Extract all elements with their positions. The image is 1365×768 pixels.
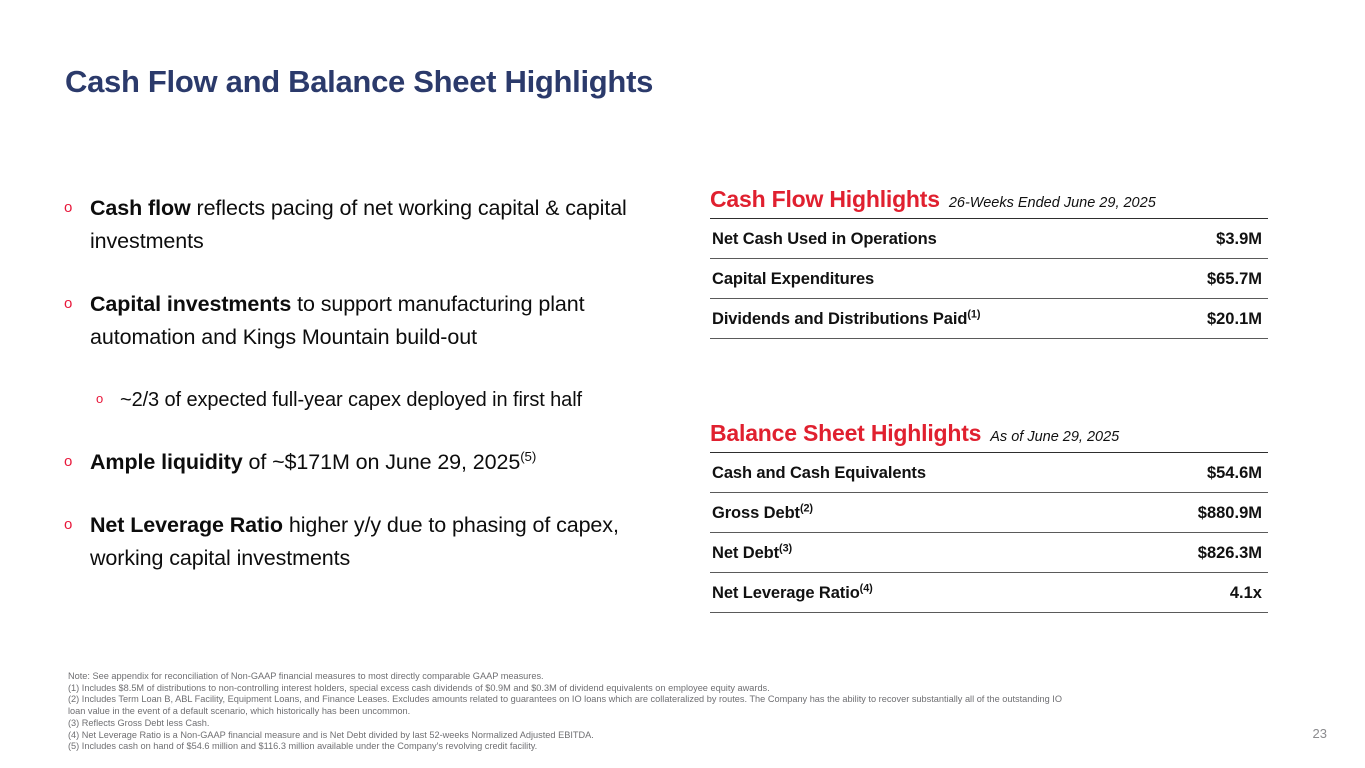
table-row-divider bbox=[710, 612, 1268, 613]
cash-flow-heading-row: Cash Flow Highlights 26-Weeks Ended June… bbox=[710, 186, 1268, 218]
bullet-item: oCapital investments to support manufact… bbox=[64, 288, 664, 354]
table-row-value: $826.3M bbox=[1198, 544, 1268, 563]
table-row-label: Net Leverage Ratio(4) bbox=[712, 584, 873, 603]
balance-sheet-heading: Balance Sheet Highlights bbox=[710, 420, 981, 447]
bullet-body: of ~$171M on June 29, 2025 bbox=[243, 450, 521, 474]
bullet-marker-icon: o bbox=[64, 509, 90, 541]
bullet-lead-term: Ample liquidity bbox=[90, 450, 243, 474]
balance-sheet-highlights-panel: Balance Sheet Highlights As of June 29, … bbox=[710, 420, 1268, 613]
cash-flow-highlights-panel: Cash Flow Highlights 26-Weeks Ended June… bbox=[710, 186, 1268, 339]
bullet-marker-icon: o bbox=[96, 384, 120, 414]
bullet-item: o~2/3 of expected full-year capex deploy… bbox=[64, 384, 664, 416]
table-row-label: Gross Debt(2) bbox=[712, 504, 813, 523]
bullet-marker-icon: o bbox=[64, 288, 90, 320]
footnote-line: (2) Includes Term Loan B, ABL Facility, … bbox=[68, 694, 1273, 706]
bullet-text: ~2/3 of expected full-year capex deploye… bbox=[120, 384, 582, 416]
table-row: Gross Debt(2)$880.9M bbox=[710, 493, 1268, 532]
table-row-label-text: Gross Debt bbox=[712, 504, 800, 522]
table-row-label: Net Cash Used in Operations bbox=[712, 230, 937, 249]
bullet-body: ~2/3 of expected full-year capex deploye… bbox=[120, 389, 582, 411]
bullet-item: oCash flow reflects pacing of net workin… bbox=[64, 192, 664, 258]
table-row-value: 4.1x bbox=[1230, 584, 1268, 603]
footnote-line: (3) Reflects Gross Debt less Cash. bbox=[68, 718, 1273, 730]
footnote-line: loan value in the event of a default sce… bbox=[68, 706, 1273, 718]
bullet-marker-icon: o bbox=[64, 446, 90, 478]
table-row-label: Net Debt(3) bbox=[712, 544, 792, 563]
table-row-value: $20.1M bbox=[1207, 310, 1268, 329]
balance-sheet-subheading: As of June 29, 2025 bbox=[990, 429, 1119, 445]
table-row-label: Capital Expenditures bbox=[712, 270, 874, 289]
table-row: Net Leverage Ratio(4)4.1x bbox=[710, 573, 1268, 612]
table-row: Capital Expenditures$65.7M bbox=[710, 259, 1268, 298]
table-row-footnote-ref: (3) bbox=[779, 543, 792, 555]
bullet-item: oAmple liquidity of ~$171M on June 29, 2… bbox=[64, 446, 664, 479]
footnote-line: (1) Includes $8.5M of distributions to n… bbox=[68, 683, 1273, 695]
bullet-item: oNet Leverage Ratio higher y/y due to ph… bbox=[64, 509, 664, 575]
table-row-label: Cash and Cash Equivalents bbox=[712, 464, 926, 483]
cash-flow-heading: Cash Flow Highlights bbox=[710, 186, 940, 213]
bullet-text: Ample liquidity of ~$171M on June 29, 20… bbox=[90, 446, 536, 479]
table-row-label: Dividends and Distributions Paid(1) bbox=[712, 310, 980, 329]
table-row: Dividends and Distributions Paid(1)$20.1… bbox=[710, 299, 1268, 338]
table-row-label-text: Net Cash Used in Operations bbox=[712, 230, 937, 248]
page-title: Cash Flow and Balance Sheet Highlights bbox=[65, 64, 653, 100]
footnotes-block: Note: See appendix for reconciliation of… bbox=[68, 671, 1273, 753]
cash-flow-rows: Net Cash Used in Operations$3.9MCapital … bbox=[710, 219, 1268, 339]
bullet-lead-term: Cash flow bbox=[90, 196, 191, 220]
table-row-label-text: Net Debt bbox=[712, 544, 779, 562]
page-number: 23 bbox=[1313, 726, 1327, 741]
balance-sheet-rows: Cash and Cash Equivalents$54.6MGross Deb… bbox=[710, 453, 1268, 613]
table-row-divider bbox=[710, 338, 1268, 339]
table-row-footnote-ref: (1) bbox=[967, 309, 980, 321]
bullet-text: Net Leverage Ratio higher y/y due to pha… bbox=[90, 509, 664, 575]
bullet-marker-icon: o bbox=[64, 192, 90, 224]
table-row-label-text: Net Leverage Ratio bbox=[712, 584, 860, 602]
highlights-bullet-list: oCash flow reflects pacing of net workin… bbox=[64, 192, 664, 575]
table-row-value: $65.7M bbox=[1207, 270, 1268, 289]
table-row-label-text: Cash and Cash Equivalents bbox=[712, 464, 926, 482]
table-row: Cash and Cash Equivalents$54.6M bbox=[710, 453, 1268, 492]
table-row: Net Cash Used in Operations$3.9M bbox=[710, 219, 1268, 258]
table-row: Net Debt(3)$826.3M bbox=[710, 533, 1268, 572]
table-row-value: $880.9M bbox=[1198, 504, 1268, 523]
bullet-text: Capital investments to support manufactu… bbox=[90, 288, 664, 354]
table-row-value: $54.6M bbox=[1207, 464, 1268, 483]
balance-sheet-heading-row: Balance Sheet Highlights As of June 29, … bbox=[710, 420, 1268, 452]
table-row-value: $3.9M bbox=[1216, 230, 1268, 249]
bullet-text: Cash flow reflects pacing of net working… bbox=[90, 192, 664, 258]
footnote-line: (5) Includes cash on hand of $54.6 milli… bbox=[68, 741, 1273, 753]
cash-flow-subheading: 26-Weeks Ended June 29, 2025 bbox=[949, 195, 1156, 211]
bullet-footnote-ref: (5) bbox=[520, 449, 536, 464]
table-row-label-text: Dividends and Distributions Paid bbox=[712, 310, 967, 328]
footnote-line: (4) Net Leverage Ratio is a Non-GAAP fin… bbox=[68, 730, 1273, 742]
bullet-lead-term: Capital investments bbox=[90, 292, 291, 316]
table-row-footnote-ref: (4) bbox=[860, 583, 873, 595]
footnote-line: Note: See appendix for reconciliation of… bbox=[68, 671, 1273, 683]
bullet-lead-term: Net Leverage Ratio bbox=[90, 513, 283, 537]
table-row-footnote-ref: (2) bbox=[800, 503, 813, 515]
slide-canvas: Cash Flow and Balance Sheet Highlights o… bbox=[0, 0, 1365, 768]
table-row-label-text: Capital Expenditures bbox=[712, 270, 874, 288]
